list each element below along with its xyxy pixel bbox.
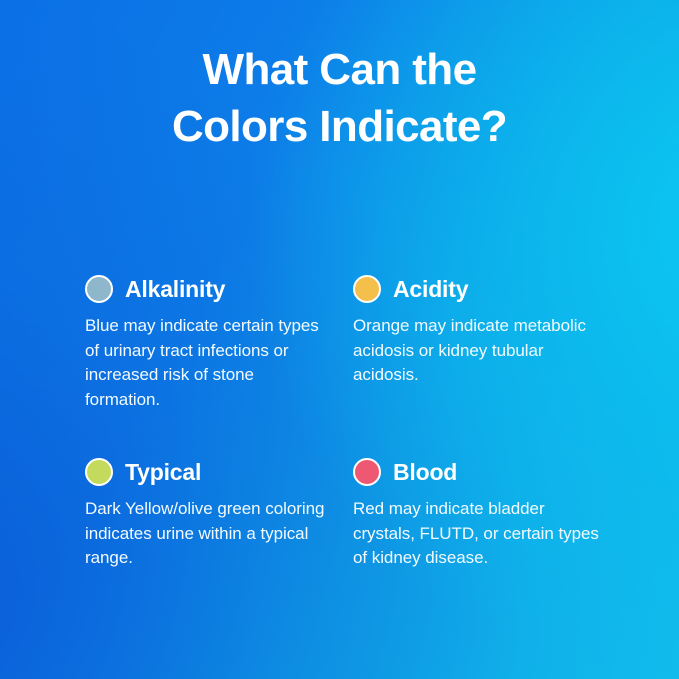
legend-item-blood: Blood Red may indicate bladder crystals,…	[353, 455, 605, 571]
legend-item-blood-label: Blood	[393, 459, 457, 485]
legend-item-blood-header: Blood	[353, 455, 605, 489]
legend-item-typical-label: Typical	[125, 459, 201, 485]
infographic-poster: What Can the Colors Indicate? Alkalinity…	[0, 0, 679, 679]
legend-item-typical-description: Dark Yellow/olive green coloring indicat…	[85, 497, 330, 571]
color-swatch-red-icon	[353, 458, 381, 486]
page-title-line-1: What Can the	[40, 41, 639, 98]
color-legend-grid: Alkalinity Blue may indicate certain typ…	[85, 272, 605, 571]
color-swatch-orange-icon	[353, 275, 381, 303]
legend-item-acidity-header: Acidity	[353, 272, 605, 306]
color-swatch-green-icon	[85, 458, 113, 486]
legend-item-alkalinity-header: Alkalinity	[85, 272, 353, 306]
legend-item-acidity: Acidity Orange may indicate metabolic ac…	[353, 272, 605, 412]
page-title: What Can the Colors Indicate?	[0, 41, 679, 155]
legend-item-alkalinity: Alkalinity Blue may indicate certain typ…	[85, 272, 353, 412]
legend-item-acidity-description: Orange may indicate metabolic acidosis o…	[353, 314, 601, 388]
legend-item-acidity-label: Acidity	[393, 276, 468, 302]
page-title-line-2: Colors Indicate?	[40, 98, 639, 155]
legend-item-alkalinity-description: Blue may indicate certain types of urina…	[85, 314, 330, 412]
legend-item-blood-description: Red may indicate bladder crystals, FLUTD…	[353, 497, 601, 571]
legend-item-typical: Typical Dark Yellow/olive green coloring…	[85, 455, 353, 571]
color-swatch-blue-icon	[85, 275, 113, 303]
legend-item-typical-header: Typical	[85, 455, 353, 489]
legend-item-alkalinity-label: Alkalinity	[125, 276, 225, 302]
